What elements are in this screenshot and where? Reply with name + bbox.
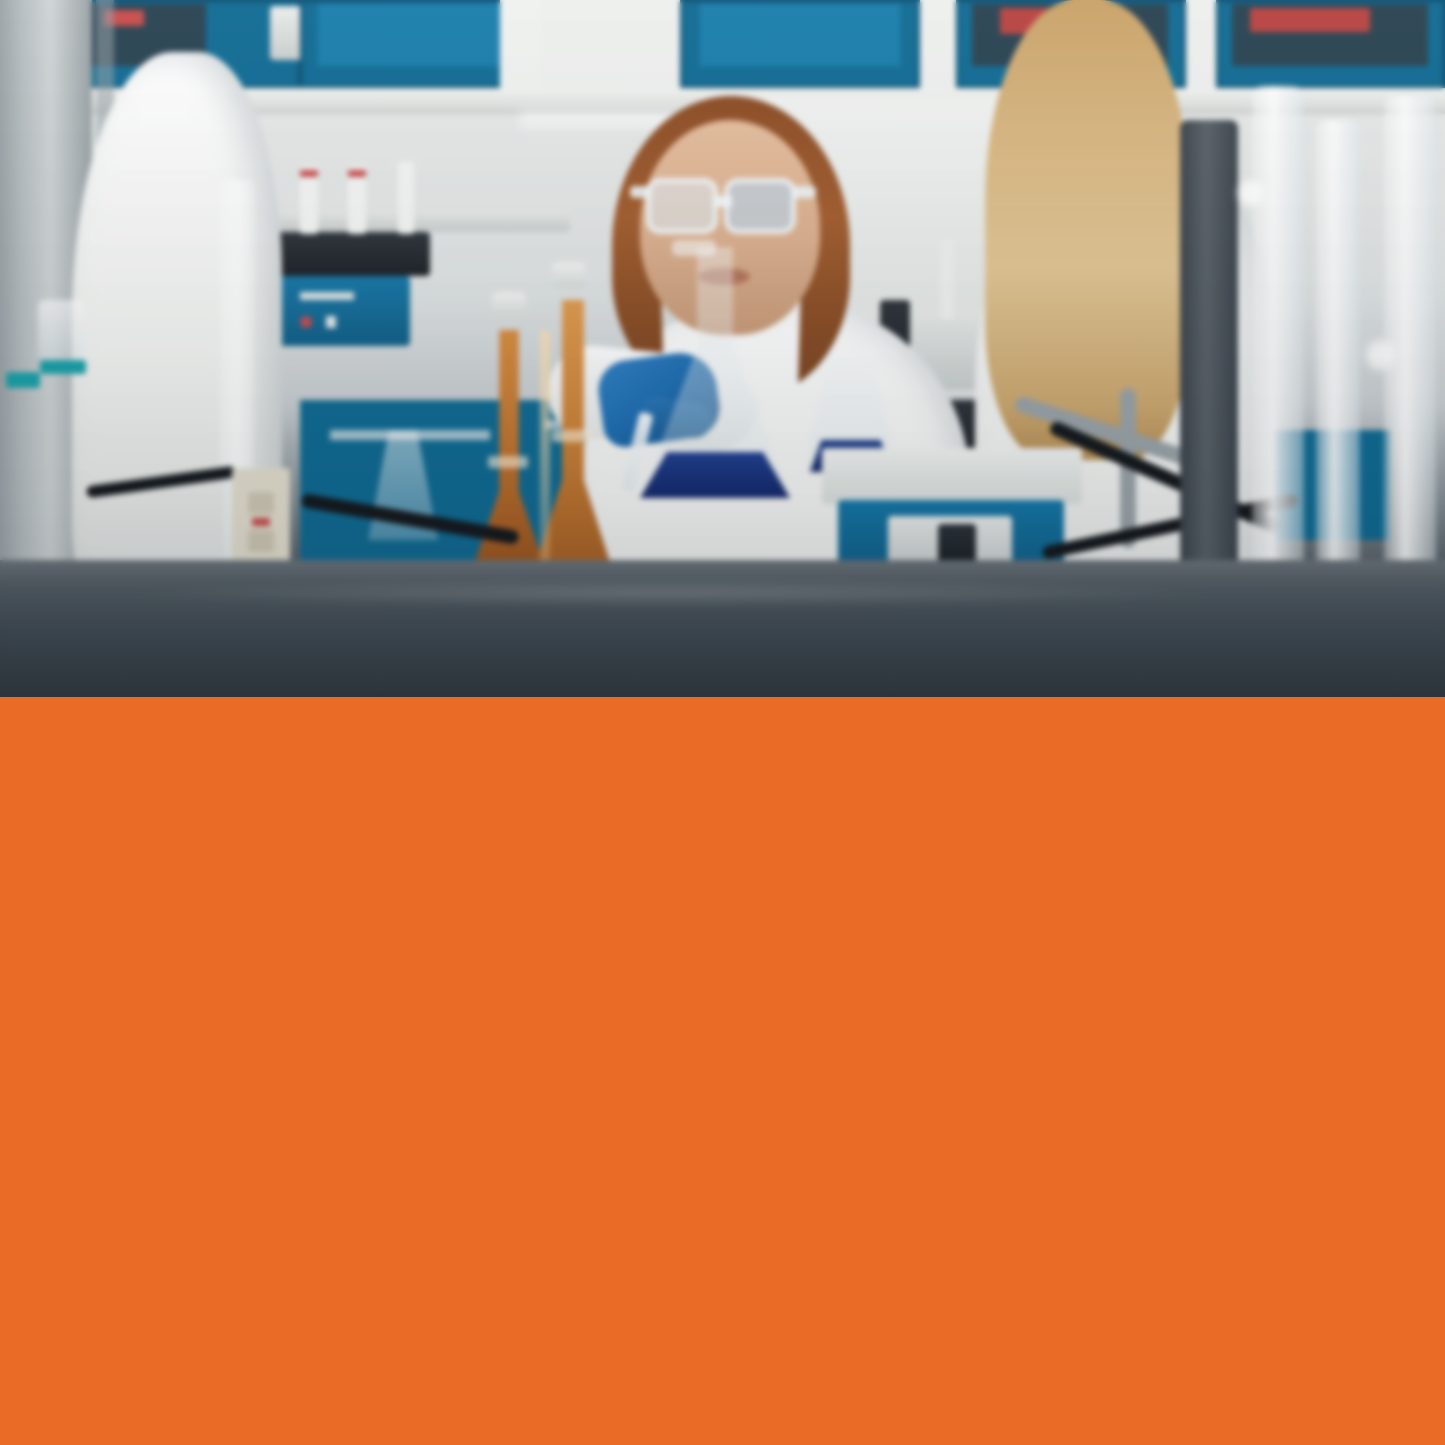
page-title: THERE IS A FINE LINE BETWEEN PASSION AND… [108,1438,1271,1445]
photo-color-grade [0,0,1445,698]
orange-message-panel: THERE IS A FINE LINE BETWEEN PASSION AND… [0,697,1445,1445]
laboratory-photo: 500 [0,0,1445,698]
promo-card: 500 THERE IS A FINE LINE BETWEEN PASSION… [0,0,1445,1445]
